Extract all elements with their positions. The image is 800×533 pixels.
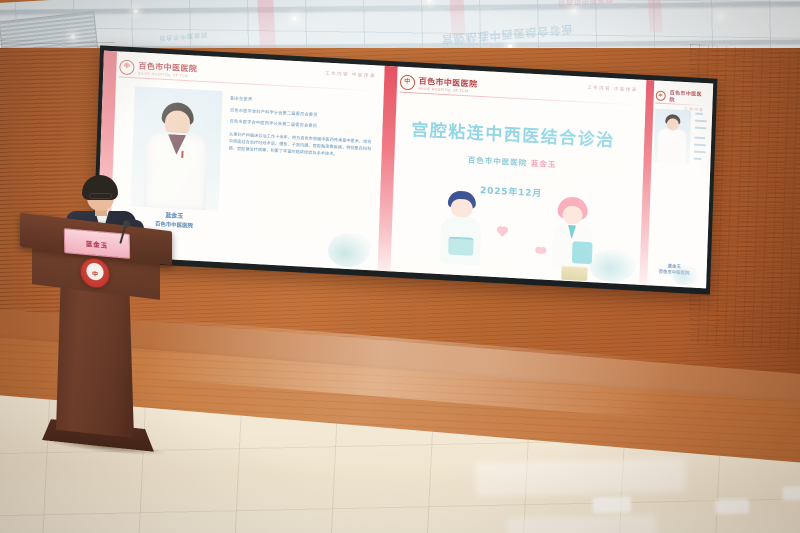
presenter-glasses: [89, 193, 112, 199]
heart-icon: [537, 247, 544, 254]
podium-column: [56, 280, 134, 438]
floor-reflection: [475, 458, 686, 496]
bio-paragraph: 从事妇产科临床诊治工作十余年，将为百色市首届中医药传承基中医术、综合中西医结合治…: [229, 130, 374, 159]
portrait-pen: [181, 151, 183, 158]
floor-reflection: [506, 515, 657, 533]
slide-title: 中 百色市中医医院 BAISE HOSPITAL OF TCM 工作内容 中医传…: [377, 66, 646, 285]
cartoon-doctor-left-icon: [435, 190, 486, 269]
decorative-book-graphic: [561, 266, 587, 281]
presentation-subtitle: 百色市中医医院 蓝金玉: [381, 150, 643, 175]
presentation-title: 宫腔粘连中西医结合诊治: [382, 114, 645, 153]
lectern-podium: 中 蓝金玉: [18, 222, 178, 462]
nameplate-text: 蓝金玉: [86, 238, 109, 250]
ceiling-reflection-strip: [646, 0, 663, 33]
decorative-leaf-graphic: [672, 265, 699, 286]
led-screen[interactable]: 中 百色市中医医院 BAISE HOSPITAL OF TCM 工作内容 中医传…: [93, 45, 718, 294]
slide-bio-partial: 中 百色市中医医院 工作内容 蓝金玉: [639, 80, 713, 289]
floor-reflection: [782, 486, 800, 501]
hospital-emblem-icon: 中: [399, 74, 415, 90]
floor-reflection: [593, 497, 631, 514]
subtitle-presenter-name: 蓝金玉: [531, 159, 557, 169]
speaker-bio-text: 副主任医师 百色市医学会妇产科学分会第二届委员会委员 百色市医学会中医药学分会第…: [229, 95, 375, 159]
screen-surface: 中 百色市中医医院 BAISE HOSPITAL OF TCM 工作内容 中医传…: [97, 51, 713, 289]
hospital-emblem-icon: 中: [119, 59, 135, 75]
floor-reflection: [715, 499, 749, 515]
presentation-date: 2025年12月: [380, 178, 642, 205]
heart-icon: [497, 227, 507, 237]
bio-text-lines: [693, 113, 708, 166]
hospital-emblem-icon: 中: [655, 90, 665, 101]
decorative-leaf-graphic: [327, 232, 370, 268]
conference-hall-scene: 宫腔粘连中西医结合诊治 宫腔粘连中西医结合诊治 百色市中医医院 百色市中医医院: [0, 0, 800, 533]
subtitle-organization: 百色市中医医院: [468, 155, 528, 167]
decorative-herb-graphic: [589, 248, 636, 282]
speaker-portrait-photo: [653, 108, 691, 164]
